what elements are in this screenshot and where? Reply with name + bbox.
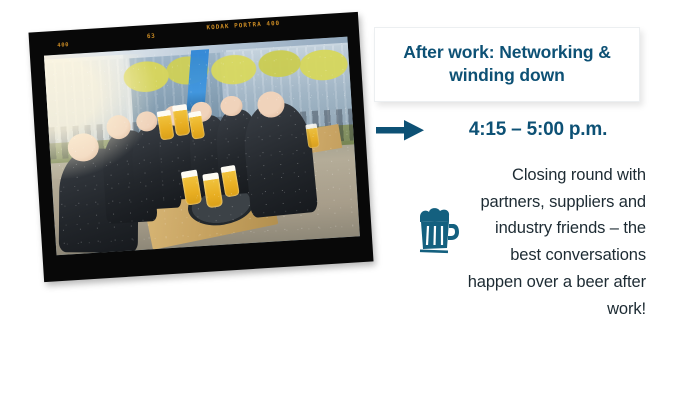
photo-image [44,37,360,256]
event-photo: 400 63 KODAK PORTRA 400 [28,12,373,282]
film-frame-number: 63 [147,33,156,41]
film-brand-label: KODAK PORTRA 400 [206,20,280,32]
time-row: 4:15 – 5:00 p.m. [374,115,646,145]
film-code-left: 400 [57,42,69,49]
time-label: 4:15 – 5:00 p.m. [430,119,646,141]
beer-mug-icon [415,204,461,256]
body-paragraph: Closing round with partners, suppliers a… [465,162,646,322]
film-frame: 400 63 KODAK PORTRA 400 [28,12,373,282]
body-row: Closing round with partners, suppliers a… [415,162,646,322]
arrow-right-icon [374,115,430,145]
page-title: After work: Networking & winding down [389,41,625,87]
title-card: After work: Networking & winding down [374,27,640,102]
